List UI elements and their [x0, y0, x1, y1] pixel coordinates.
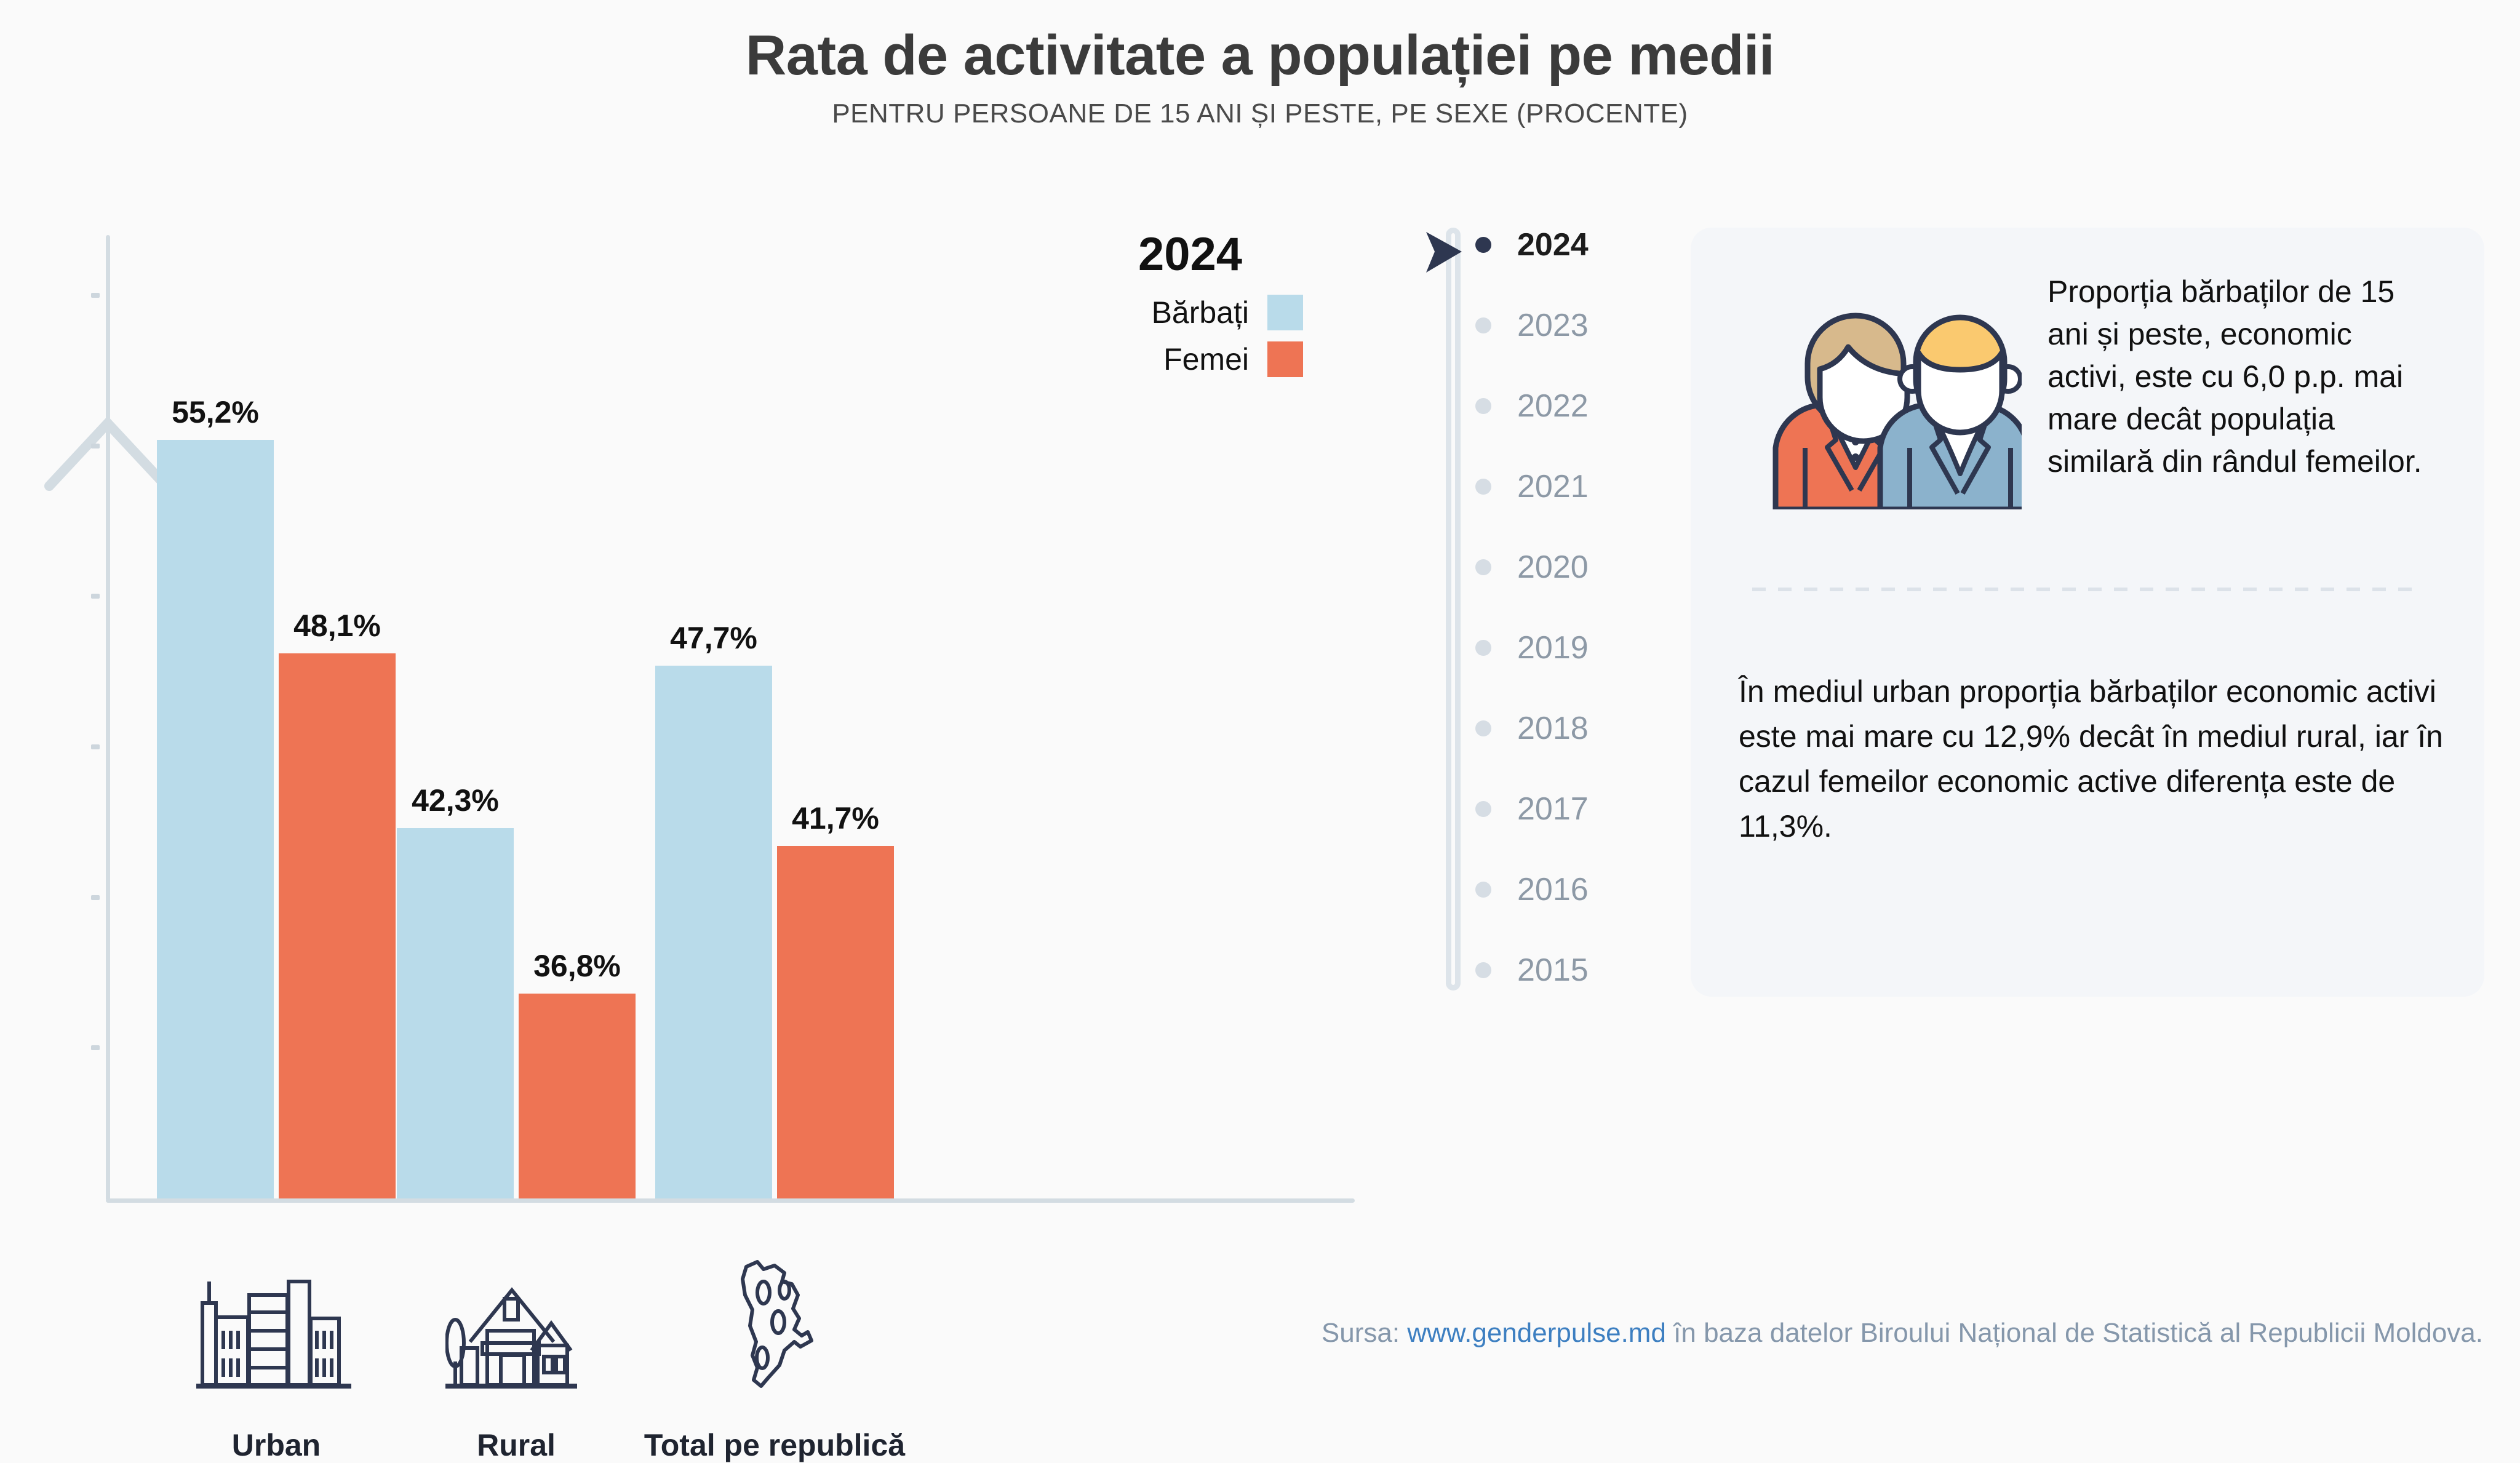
legend-item-female[interactable]: Femei	[1138, 341, 1317, 377]
bar-group: 42,3%36,8% Rural	[397, 337, 636, 1198]
info-card-paragraph-1: Proporția bărbaților de 15 ani și peste,…	[2047, 271, 2429, 483]
year-label: 2022	[1517, 388, 1589, 425]
year-dot-icon	[1475, 317, 1491, 333]
year-dot-icon	[1475, 720, 1491, 736]
y-axis-tick-mark	[91, 895, 100, 900]
legend-label-female: Femei	[1138, 341, 1249, 377]
infographic-root: Rata de activitate a populației pe medii…	[0, 0, 2520, 1372]
year-dot-icon	[1475, 882, 1491, 898]
bar-value-label: 36,8%	[533, 948, 621, 984]
bar-group: 47,7%41,7% Total pe republică	[655, 337, 894, 1198]
y-axis-tick-mark	[91, 444, 100, 448]
legend-year: 2024	[1138, 228, 1317, 281]
y-axis-tick: 35	[0, 1029, 106, 1030]
bar-value-label: 41,7%	[792, 800, 879, 836]
bar-value-label: 48,1%	[293, 608, 381, 644]
year-label: 2023	[1517, 307, 1589, 344]
bar-value-label: 47,7%	[670, 620, 757, 656]
year-dot-icon	[1475, 801, 1491, 817]
bar[interactable]: 55,2%	[157, 440, 274, 1198]
y-axis-tick-mark	[91, 1045, 100, 1050]
year-option-2017[interactable]: 2017	[1433, 791, 1655, 827]
bar-group: 55,2%48,1% Urban	[157, 337, 396, 1198]
legend-swatch-male	[1267, 295, 1303, 330]
bar[interactable]: 36,8%	[519, 994, 636, 1198]
bar[interactable]: 48,1%	[279, 653, 396, 1198]
year-option-2018[interactable]: 2018	[1433, 710, 1655, 747]
year-label: 2015	[1517, 952, 1589, 989]
y-axis-tick: 45	[0, 728, 106, 729]
info-card-divider	[1752, 588, 2423, 591]
source-link[interactable]: www.genderpulse.md	[1407, 1318, 1666, 1348]
y-axis-tick: 50	[0, 578, 106, 578]
year-label: 2017	[1517, 791, 1589, 827]
y-axis-tick: 55	[0, 428, 106, 428]
source-suffix: în baza datelor Biroului Național de Sta…	[1666, 1318, 2483, 1348]
y-axis-tick: 30	[0, 1180, 106, 1181]
page-title: Rata de activitate a populației pe medii	[0, 23, 2520, 88]
legend-label-male: Bărbați	[1138, 295, 1249, 330]
year-dot-icon	[1475, 237, 1491, 253]
category-label: Total pe republică	[644, 1427, 905, 1463]
year-dot-icon	[1475, 962, 1491, 978]
y-axis-tick: 40	[0, 879, 106, 880]
year-label: 2024	[1517, 226, 1589, 263]
y-axis-line	[106, 235, 110, 1201]
year-option-2023[interactable]: 2023	[1433, 307, 1655, 344]
year-selector[interactable]: 2024202320222021202020192018201720162015	[1433, 215, 1667, 1015]
year-label: 2021	[1517, 468, 1589, 505]
year-label: 2016	[1517, 871, 1589, 908]
info-card: Proporția bărbaților de 15 ani și peste,…	[1691, 228, 2484, 997]
year-option-2015[interactable]: 2015	[1433, 952, 1655, 989]
year-label: 2018	[1517, 710, 1589, 747]
source-prefix: Sursa:	[1322, 1318, 1407, 1348]
year-dot-icon	[1475, 559, 1491, 575]
category-label: Rural	[477, 1427, 556, 1463]
year-option-2019[interactable]: 2019	[1433, 629, 1655, 666]
year-option-2021[interactable]: 2021	[1433, 468, 1655, 505]
year-option-2022[interactable]: 2022	[1433, 388, 1655, 425]
bar[interactable]: 42,3%	[397, 828, 514, 1198]
bar-value-label: 55,2%	[172, 394, 259, 430]
year-option-2020[interactable]: 2020	[1433, 549, 1655, 586]
year-option-2016[interactable]: 2016	[1433, 871, 1655, 908]
year-label: 2019	[1517, 629, 1589, 666]
page-subtitle: PENTRU PERSOANE DE 15 ANI ȘI PESTE, PE S…	[0, 98, 2520, 129]
year-dot-icon	[1475, 479, 1491, 495]
y-axis-tick-mark	[91, 744, 100, 749]
bar[interactable]: 47,7%	[655, 666, 772, 1198]
two-people-icon	[1751, 263, 2022, 509]
y-axis-tick-mark	[91, 594, 100, 599]
year-dot-icon	[1475, 398, 1491, 414]
legend-item-male[interactable]: Bărbați	[1138, 295, 1317, 330]
bar[interactable]: 41,7%	[777, 846, 894, 1198]
chart-legend: 2024 Bărbați Femei	[1138, 228, 1317, 388]
info-card-paragraph-2: În mediul urban proporția bărbaților eco…	[1739, 669, 2446, 849]
year-label: 2020	[1517, 549, 1589, 586]
source-footer: Sursa: www.genderpulse.md în baza datelo…	[0, 1318, 2520, 1349]
y-axis-tick: 60	[0, 277, 106, 277]
legend-swatch-female	[1267, 341, 1303, 377]
info-card-top: Proporția bărbaților de 15 ani și peste,…	[1691, 228, 2484, 535]
category-label: Urban	[232, 1427, 321, 1463]
bar-value-label: 42,3%	[412, 783, 499, 818]
year-dot-icon	[1475, 640, 1491, 656]
y-axis-tick-mark	[91, 293, 100, 298]
year-option-2024[interactable]: 2024	[1433, 226, 1655, 263]
